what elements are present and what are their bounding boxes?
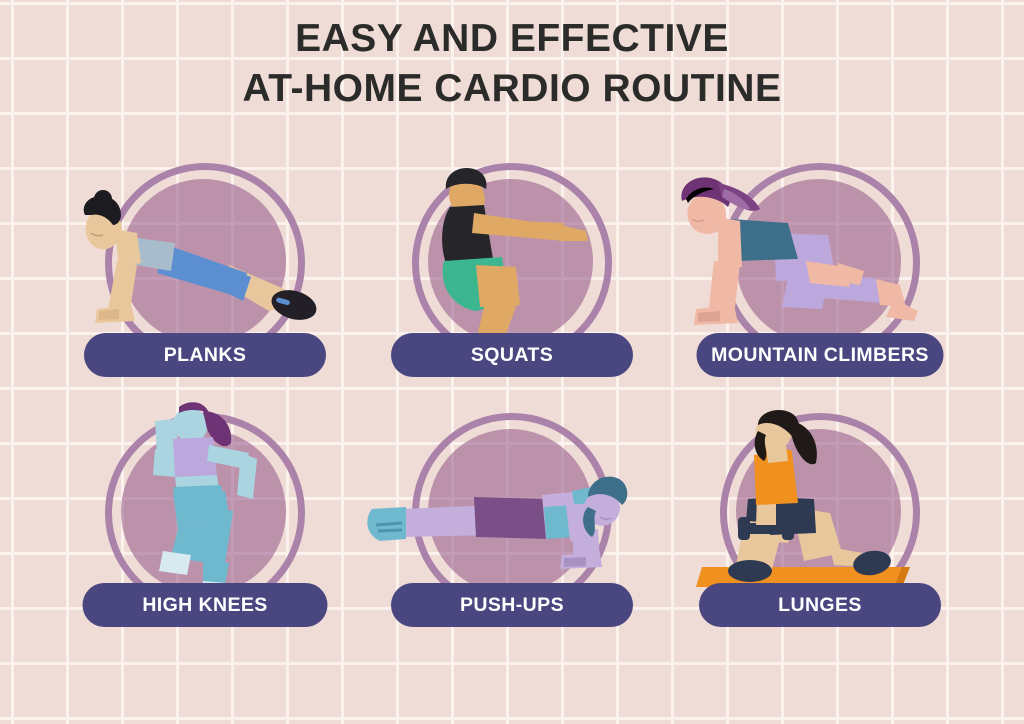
exercise-label-planks[interactable]: PLANKS [84, 333, 326, 377]
exercise-card-push-ups[interactable]: PUSH-UPS [352, 405, 672, 655]
exercise-label-lunges[interactable]: LUNGES [699, 583, 941, 627]
exercise-label-squats[interactable]: SQUATS [391, 333, 633, 377]
exercise-card-planks[interactable]: PLANKS [45, 155, 365, 405]
exercise-label-high-knees[interactable]: HIGH KNEES [83, 583, 328, 627]
exercise-card-squats[interactable]: SQUATS [352, 155, 672, 405]
exercise-label-mountain-climbers[interactable]: MOUNTAIN CLIMBERS [697, 333, 944, 377]
exercise-card-mountain-climbers[interactable]: MOUNTAIN CLIMBERS [660, 155, 980, 405]
infographic-poster: EASY AND EFFECTIVE AT-HOME CARDIO ROUTIN… [0, 0, 1024, 724]
page-title: EASY AND EFFECTIVE AT-HOME CARDIO ROUTIN… [0, 14, 1024, 114]
title-line-secondary: AT-HOME CARDIO ROUTINE [0, 64, 1024, 114]
title-line-primary: EASY AND EFFECTIVE [0, 14, 1024, 64]
exercise-card-high-knees[interactable]: HIGH KNEES [45, 405, 365, 655]
exercise-card-lunges[interactable]: LUNGES [660, 405, 980, 655]
exercise-grid: PLANKS [0, 155, 1024, 685]
exercise-label-push-ups[interactable]: PUSH-UPS [391, 583, 633, 627]
